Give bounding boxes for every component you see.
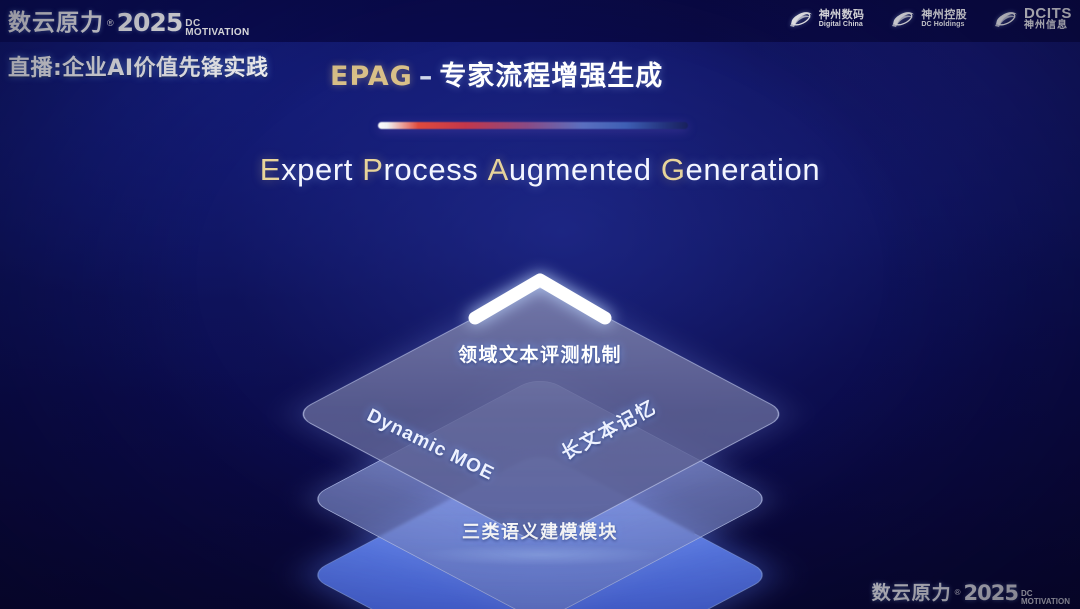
watermark-logo-year: 2025 [964,581,1018,605]
diagram-layer-top[interactable] [365,238,717,590]
subtitle-initial-a: A [488,152,509,187]
swirl-icon [890,8,916,30]
event-logo-registered-mark: ® [107,18,114,37]
partner-label: 神州控股 DC Holdings [921,9,967,27]
subtitle-word-augmented: ugmented [509,152,652,187]
title-dash: – [413,61,440,92]
partner-logo-dcits: DCITS 神州信息 [993,6,1072,31]
partner-name-en: DC Holdings [921,21,967,28]
partner-name-cn: 神州数码 [819,9,865,20]
watermark-logo-registered-mark: ® [955,588,961,605]
partner-name-en: Digital China [819,21,865,28]
event-logo: 数云原力 ® 2025 DC MOTIVATION [8,3,250,37]
subtitle-initial-e: E [260,152,281,187]
partner-label: 神州数码 Digital China [819,9,865,27]
event-logo-dc-motivation: DC MOTIVATION [185,19,249,37]
event-logo-year: 2025 [117,8,183,37]
swirl-icon [788,8,814,30]
partner-name-en: DCITS [1024,6,1072,21]
subtitle-word-expert: xpert [281,152,353,187]
partner-label: DCITS 神州信息 [1024,6,1072,31]
diagram-layer-top-plate [292,282,790,546]
watermark-logo-cn: 数云原力 [872,578,952,605]
title-acronym: EPAG [330,61,413,92]
live-banner-text: 直播:企业AI价值先锋实践 [8,50,269,82]
page-title: EPAG–专家流程增强生成 [330,54,663,93]
subtitle: Expert Process Augmented Generation [0,152,1080,188]
swirl-icon [993,8,1019,30]
partner-logo-digital-china: 神州数码 Digital China [788,8,865,30]
partner-logo-group: 神州数码 Digital China 神州控股 DC Holdings [788,6,1072,31]
event-logo-cn: 数云原力 [8,3,104,37]
subtitle-word-process: rocess [384,152,479,187]
gradient-divider [378,122,688,129]
layered-architecture-diagram: 领域文本评测机制 Dynamic MOE 长文本记忆 三类语义建模模块 [250,222,830,592]
title-chinese: 专家流程增强生成 [439,61,663,92]
slide-canvas: 数云原力 ® 2025 DC MOTIVATION 直播:企业AI价值先锋实践 … [0,0,1080,609]
event-logo-dc-line2: MOTIVATION [185,28,249,37]
watermark-logo-dc-line2: MOTIVATION [1021,598,1070,605]
partner-name-cn: 神州信息 [1024,21,1072,31]
partner-name-cn: 神州控股 [921,9,967,20]
subtitle-initial-g: G [661,152,686,187]
partner-logo-dc-holdings: 神州控股 DC Holdings [890,8,967,30]
watermark-logo: 数云原力 ® 2025 DC MOTIVATION [872,578,1070,605]
watermark-logo-dc-motivation: DC MOTIVATION [1021,590,1070,605]
subtitle-word-generation: eneration [686,152,821,187]
subtitle-initial-p: P [362,152,383,187]
